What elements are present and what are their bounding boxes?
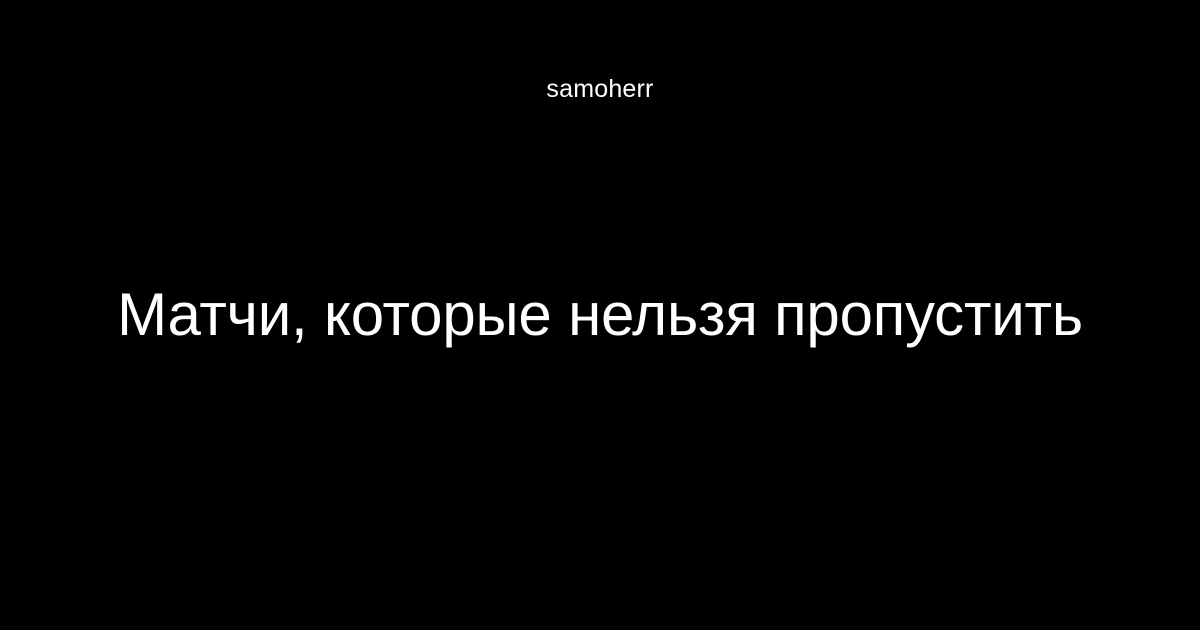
headline-container: Матчи, которые нельзя пропустить xyxy=(0,0,1200,630)
share-card: samoherr Матчи, которые нельзя пропустит… xyxy=(0,0,1200,630)
page-title: Матчи, которые нельзя пропустить xyxy=(117,280,1083,351)
